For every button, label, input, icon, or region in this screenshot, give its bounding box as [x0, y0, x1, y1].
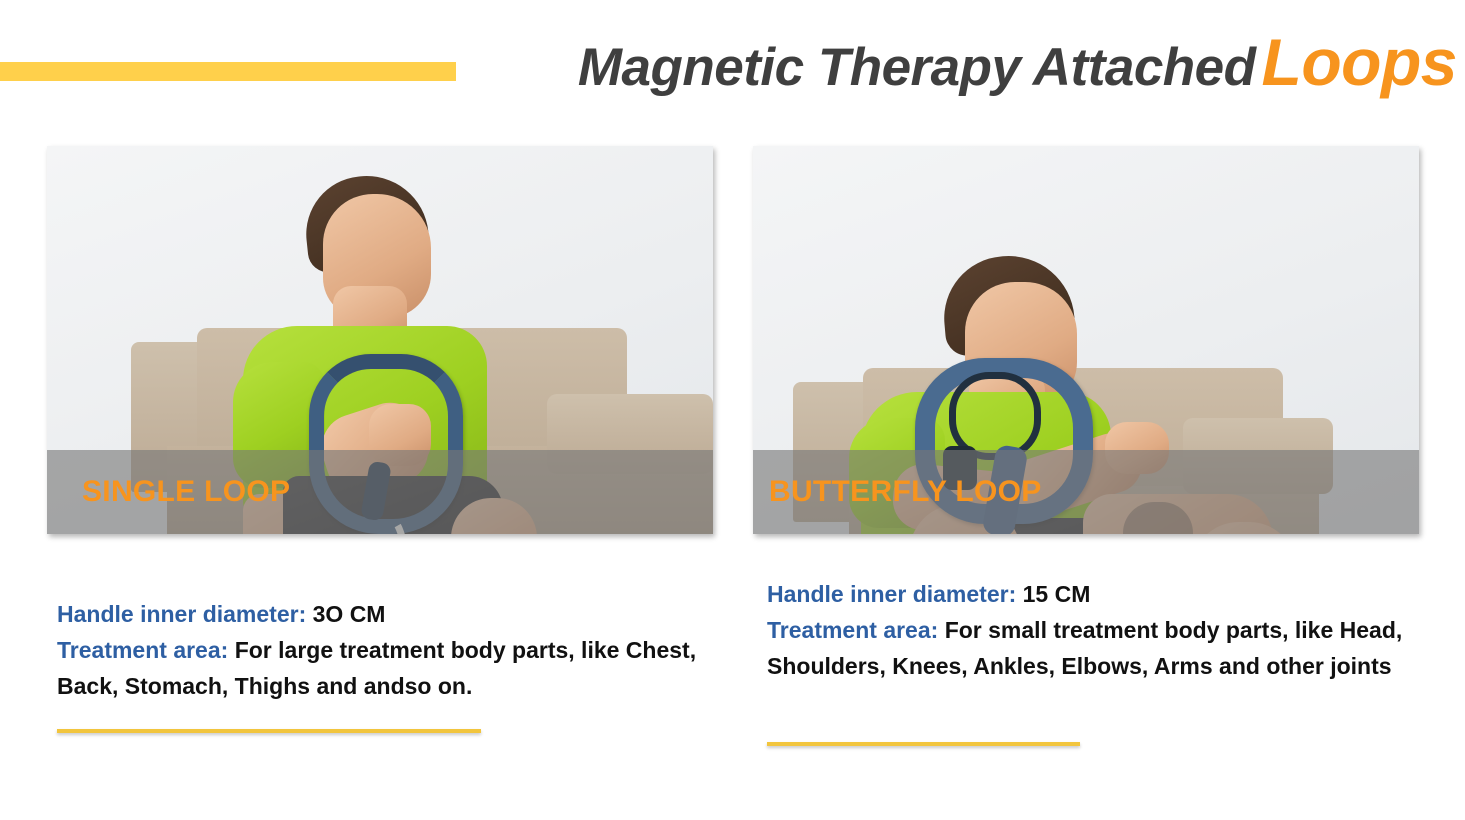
spec-area-label: Treatment area:	[57, 637, 228, 663]
loop-card-butterfly[interactable]: BUTTERFLY LOOP	[753, 146, 1419, 534]
caption-butterfly-loop: BUTTERFLY LOOP	[753, 475, 1042, 509]
caption-band-single: SINGLE LOOP	[47, 450, 713, 534]
page-title-accent: Loops	[1256, 25, 1457, 99]
caption-band-butterfly: BUTTERFLY LOOP	[753, 450, 1419, 534]
spec-area-line-single: Treatment area: For large treatment body…	[57, 632, 717, 704]
photo-single-loop: SINGLE LOOP	[47, 146, 713, 534]
spec-accent-bar-single	[57, 729, 481, 733]
spec-area-label: Treatment area:	[767, 617, 938, 643]
spec-diameter-value: 3O CM	[313, 601, 386, 627]
page-title: Magnetic Therapy AttachedLoops	[578, 24, 1457, 100]
spec-area-line-butterfly: Treatment area: For small treatment body…	[767, 612, 1427, 684]
page-title-main: Magnetic Therapy Attached	[578, 38, 1256, 97]
caption-single-loop: SINGLE LOOP	[47, 475, 290, 509]
header-accent-rule	[0, 62, 456, 81]
spec-diameter-label: Handle inner diameter:	[57, 601, 306, 627]
spec-block-butterfly: Handle inner diameter: 15 CM Treatment a…	[767, 576, 1427, 684]
spec-diameter-label: Handle inner diameter:	[767, 581, 1016, 607]
spec-block-single: Handle inner diameter: 3O CM Treatment a…	[57, 596, 717, 704]
spec-diameter-value: 15 CM	[1023, 581, 1091, 607]
page-header: Magnetic Therapy AttachedLoops	[0, 0, 1465, 120]
spec-diameter-line-single: Handle inner diameter: 3O CM	[57, 596, 717, 632]
photo-butterfly-loop: BUTTERFLY LOOP	[753, 146, 1419, 534]
loop-card-single[interactable]: SINGLE LOOP	[47, 146, 713, 534]
spec-diameter-line-butterfly: Handle inner diameter: 15 CM	[767, 576, 1427, 612]
spec-accent-bar-butterfly	[767, 742, 1080, 746]
